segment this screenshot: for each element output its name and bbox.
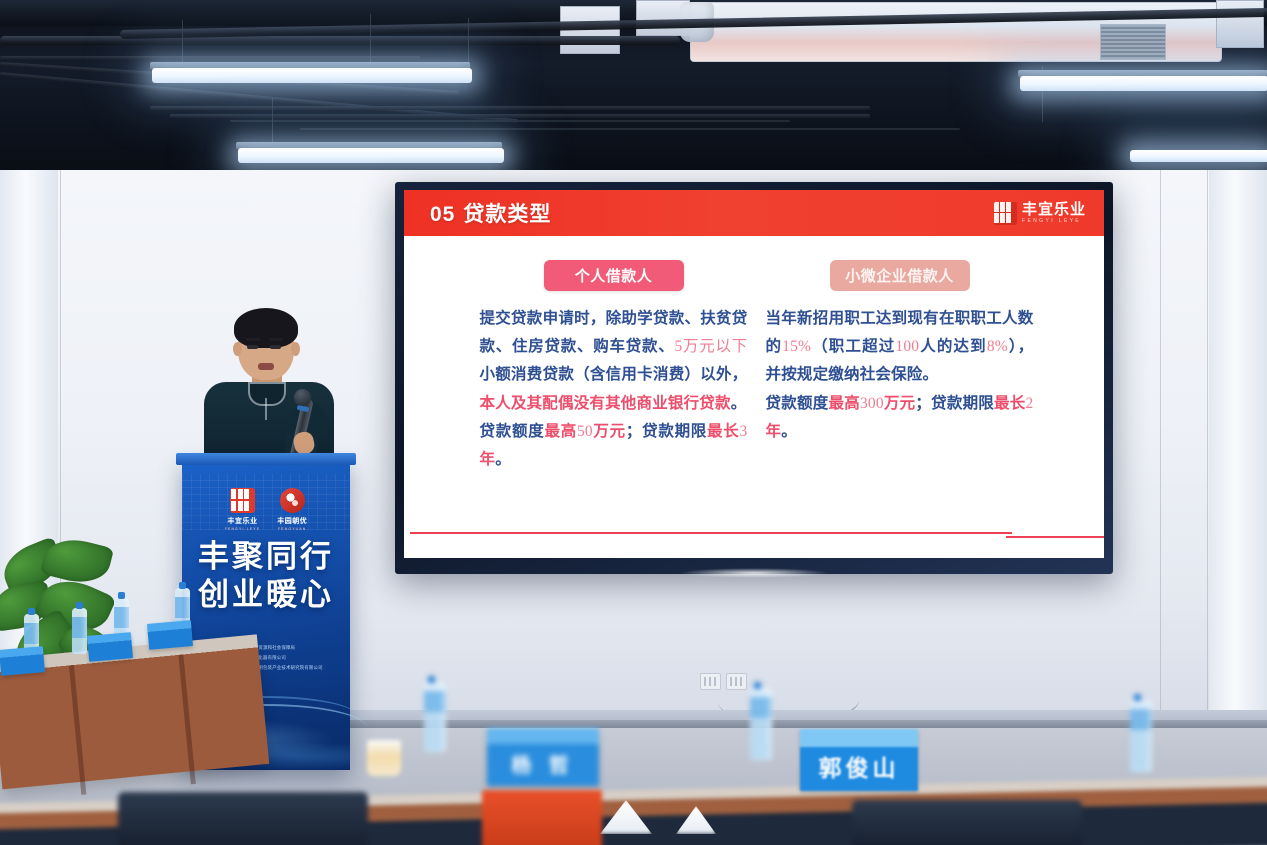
water-bottle[interactable] bbox=[1130, 700, 1152, 772]
paper-cup[interactable] bbox=[367, 740, 401, 776]
slide-text-run: 15% bbox=[782, 338, 811, 355]
ceiling-wire-1 bbox=[230, 120, 790, 122]
speaker-hair bbox=[234, 308, 298, 348]
speaker-ear-left bbox=[233, 342, 242, 356]
podium-headline-line2: 创业暖心 bbox=[182, 576, 350, 614]
slide-footer-accent-left bbox=[410, 532, 1012, 535]
wall-seam-2 bbox=[1207, 170, 1208, 730]
brand-name-cn: 丰宜乐业 bbox=[1022, 202, 1086, 217]
slide-text-run: ；贷款期限 bbox=[915, 395, 994, 412]
speaker-mouth bbox=[258, 363, 274, 370]
slide-number: 05 bbox=[430, 203, 455, 226]
brand-text: 丰宜乐业 FENGYI LEYE bbox=[1022, 202, 1086, 224]
speaker-eye-right bbox=[270, 345, 281, 349]
slide-text-run: 。 bbox=[781, 423, 797, 440]
ceiling-light-2 bbox=[238, 148, 504, 163]
slide-text-run: 贷款额度 bbox=[766, 395, 829, 412]
speaker-ear-right bbox=[291, 342, 300, 356]
ceiling bbox=[0, 0, 1267, 182]
wall-seam-3 bbox=[1160, 170, 1161, 730]
slide-paragraph: 贷款额度最高50万元；贷款期限最长3年。 bbox=[480, 418, 748, 474]
slide-text-run: 300 bbox=[860, 395, 884, 412]
light-hanger-2 bbox=[370, 14, 371, 68]
slide-header: 05贷款类型 丰宜乐业 FENGYI LEYE bbox=[404, 190, 1104, 236]
water-bottle[interactable] bbox=[750, 688, 772, 760]
presentation-slide: 05贷款类型 丰宜乐业 FENGYI LEYE 个人借款人 提交贷款申请时，除助… bbox=[404, 190, 1104, 558]
podium-logo-2-en: FENGYUAN bbox=[278, 527, 306, 531]
podium-logo-2-cn: 丰园朝优 bbox=[277, 516, 307, 526]
column-badge-individual: 个人借款人 bbox=[544, 260, 684, 291]
ceiling-pipe-thin-1 bbox=[0, 56, 420, 60]
slide-paragraph: 提交贷款申请时，除助学贷款、扶贫贷款、住房贷款、购车贷款、5万元以下小额消费贷款… bbox=[480, 305, 748, 418]
slide-text-run: 年 bbox=[480, 451, 496, 468]
slide-paragraph: 当年新招用职工达到现有在职职工人数的15%（职工超过100人的达到8%），并按规… bbox=[766, 305, 1034, 390]
slide-text-run: 万元 bbox=[884, 395, 916, 412]
presentation-screen-frame: 05贷款类型 丰宜乐业 FENGYI LEYE 个人借款人 提交贷款申请时，除助… bbox=[395, 182, 1113, 574]
partner-logo-icon bbox=[280, 488, 305, 513]
slide-text-run: 100 bbox=[895, 338, 919, 355]
speaker-brow-left bbox=[246, 338, 260, 341]
ceiling-pipe-thin-5 bbox=[170, 114, 870, 118]
podium-logo-2: 丰园朝优 FENGYUAN bbox=[277, 488, 307, 531]
table-panel-seam bbox=[69, 665, 86, 795]
nameplate-small bbox=[0, 646, 45, 676]
slide-text-run: 贷款额度 bbox=[480, 423, 545, 440]
wall-outlet-1[interactable] bbox=[700, 673, 721, 690]
podium-logo-row: 丰宜乐业 FENGYI LEYE 丰园朝优 FENGYUAN bbox=[182, 488, 350, 531]
slide-text-run: 小额消费贷款（含信用卡消费）以外， bbox=[480, 366, 748, 383]
screen-reflection bbox=[679, 568, 829, 578]
water-bottle[interactable] bbox=[72, 608, 87, 654]
podium-logo-1: 丰宜乐业 FENGYI LEYE bbox=[225, 488, 260, 531]
slide-text-run: 万元 bbox=[593, 423, 626, 440]
slide-text-run: 最长 bbox=[994, 395, 1025, 412]
nameplate-small bbox=[87, 632, 133, 662]
light-hanger-4 bbox=[272, 98, 273, 146]
ceiling-light-1 bbox=[152, 68, 472, 83]
conference-room-scene: 05贷款类型 丰宜乐业 FENGYI LEYE 个人借款人 提交贷款申请时，除助… bbox=[0, 0, 1267, 845]
slide-text-run: 。 bbox=[731, 395, 747, 412]
slide-text-run: （职工超过 bbox=[811, 338, 895, 355]
slide-title-text: 贷款类型 bbox=[463, 203, 551, 226]
podium-logo-1-cn: 丰宜乐业 bbox=[228, 516, 258, 526]
slide-text-run: 最高 bbox=[828, 395, 859, 412]
slide-text-run: 。 bbox=[495, 451, 511, 468]
light-hanger-1 bbox=[182, 20, 183, 68]
table-panel-seam bbox=[178, 654, 195, 784]
podium-headline: 丰聚同行 创业暖心 bbox=[182, 538, 350, 614]
slide-text-run: 最高 bbox=[544, 423, 576, 440]
ceiling-light-3 bbox=[1020, 76, 1267, 91]
slide-footer-accent-right bbox=[1006, 536, 1104, 539]
podium-logo-1-en: FENGYI LEYE bbox=[225, 527, 260, 531]
chair-back bbox=[118, 792, 368, 845]
brand-mark-icon bbox=[994, 202, 1017, 225]
nameplate-seat-1: 杨 哲 bbox=[487, 728, 599, 786]
podium-top-edge bbox=[176, 453, 356, 465]
slide-paragraph: 贷款额度最高300万元；贷款期限最长2年。 bbox=[766, 390, 1034, 446]
water-bottle[interactable] bbox=[424, 682, 446, 752]
slide-column-enterprise: 小微企业借款人 当年新招用职工达到现有在职职工人数的15%（职工超过100人的达… bbox=[766, 260, 1034, 524]
speaker-placket bbox=[265, 398, 267, 420]
brand-name-en: FENGYI LEYE bbox=[1022, 219, 1086, 224]
nameplate-seat-2: 郭俊山 bbox=[800, 729, 918, 791]
slide-text-run: 最长 bbox=[707, 423, 739, 440]
ceiling-light-4 bbox=[1130, 150, 1267, 162]
light-hanger-3 bbox=[468, 18, 469, 68]
speaker-brow-right bbox=[269, 338, 283, 341]
nameplate-small bbox=[147, 620, 193, 650]
slide-text-run: 8% bbox=[987, 338, 1008, 355]
ceiling-vent bbox=[1100, 24, 1166, 60]
slide-title: 05贷款类型 bbox=[430, 198, 551, 228]
column-text-enterprise: 当年新招用职工达到现有在职职工人数的15%（职工超过100人的达到8%），并按规… bbox=[766, 305, 1034, 446]
speaker-eye-left bbox=[247, 345, 258, 349]
brand-logo: 丰宜乐业 FENGYI LEYE bbox=[994, 202, 1086, 225]
slide-text-run: ；贷款期限 bbox=[626, 423, 707, 440]
ceiling-pipe-thin-4 bbox=[150, 106, 870, 110]
slide-text-run: 3 bbox=[740, 423, 748, 440]
ceiling-wire-2 bbox=[300, 128, 960, 130]
red-box-item bbox=[482, 790, 602, 845]
wall-column-right bbox=[1209, 170, 1267, 730]
slide-column-individual: 个人借款人 提交贷款申请时，除助学贷款、扶贫贷款、住房贷款、购车贷款、5万元以下… bbox=[480, 260, 748, 524]
slide-text-run: 本人及其配偶没有其他商业银行贷款 bbox=[480, 395, 731, 412]
slide-text-run: 年 bbox=[766, 423, 782, 440]
slide-text-run: 人的达到 bbox=[919, 338, 987, 355]
slide-body: 个人借款人 提交贷款申请时，除助学贷款、扶贫贷款、住房贷款、购车贷款、5万元以下… bbox=[404, 236, 1104, 524]
podium-headline-line1: 丰聚同行 bbox=[182, 538, 350, 576]
ceiling-pipe-main bbox=[0, 36, 680, 45]
slide-text-run: 50 bbox=[577, 423, 593, 440]
chair-back bbox=[852, 800, 1082, 845]
wall-outlet-2[interactable] bbox=[726, 673, 747, 690]
speaker-collar bbox=[248, 382, 286, 406]
fengyi-leye-logo-icon bbox=[230, 488, 255, 513]
column-text-individual: 提交贷款申请时，除助学贷款、扶贫贷款、住房贷款、购车贷款、5万元以下小额消费贷款… bbox=[480, 305, 748, 474]
slide-text-run: 5万元以下 bbox=[675, 338, 748, 355]
column-badge-enterprise: 小微企业借款人 bbox=[830, 260, 970, 291]
slide-text-run: 2 bbox=[1026, 395, 1034, 412]
